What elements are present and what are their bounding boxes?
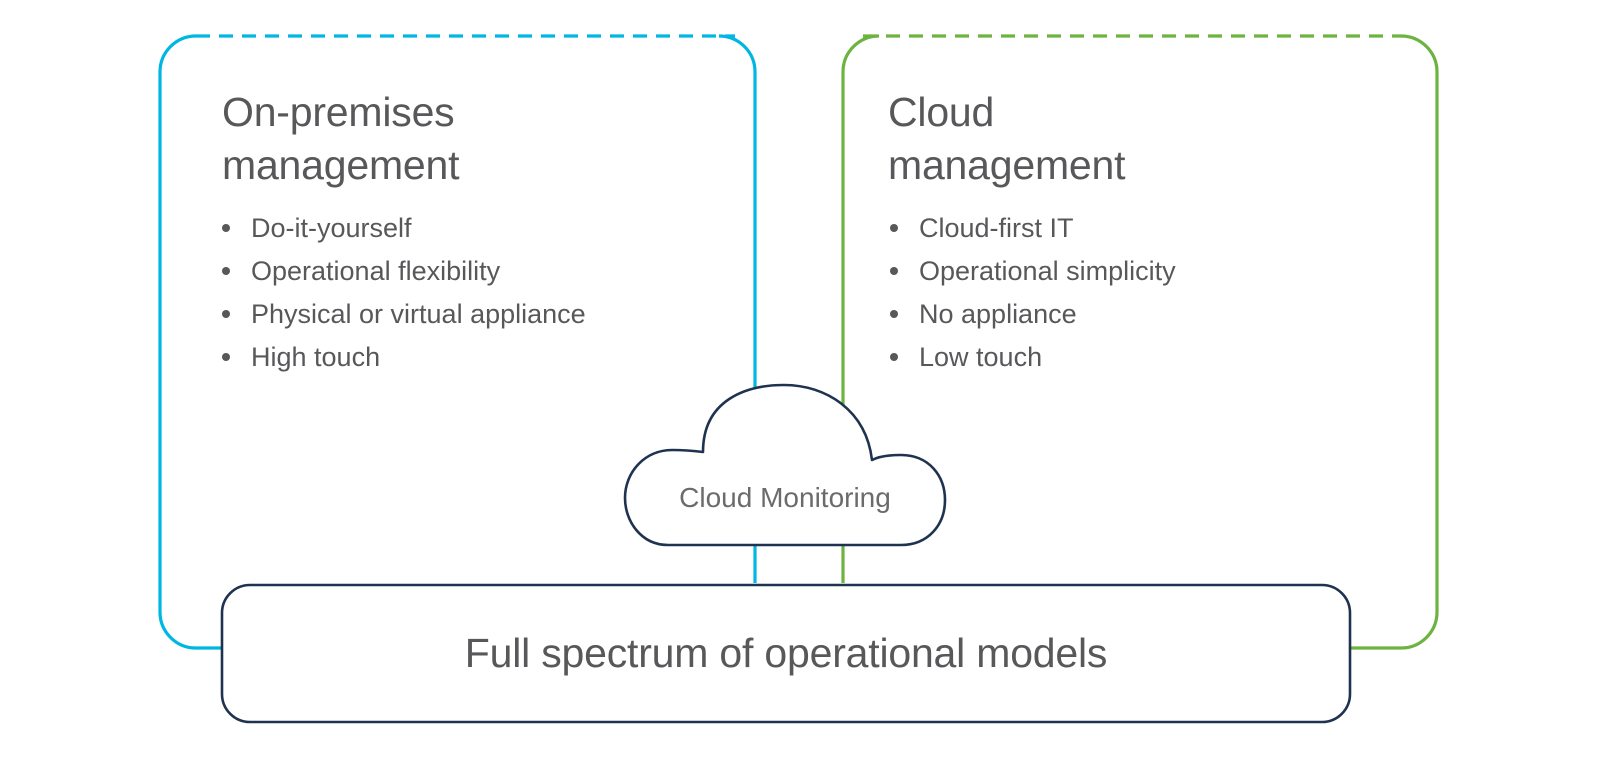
- banner-label: Full spectrum of operational models: [222, 585, 1350, 722]
- bullet-dot-icon: [222, 353, 230, 361]
- cloud-panel-right-edge: [1348, 36, 1437, 648]
- onprem-panel-heading: On-premises management: [222, 86, 459, 192]
- cloud-node-label: Cloud Monitoring: [625, 482, 945, 514]
- onprem-panel-left-edge: [160, 36, 224, 648]
- list-item: Do-it-yourself: [222, 207, 586, 250]
- list-item-label: Physical or virtual appliance: [251, 299, 586, 329]
- list-item-label: Cloud-first IT: [919, 213, 1074, 243]
- bullet-dot-icon: [890, 224, 898, 232]
- list-item: Cloud-first IT: [890, 207, 1176, 250]
- bullet-dot-icon: [222, 267, 230, 275]
- list-item: Operational flexibility: [222, 250, 586, 293]
- list-item: Low touch: [890, 336, 1176, 379]
- onprem-bullet-list: Do-it-yourself Operational flexibility P…: [222, 207, 586, 379]
- bullet-dot-icon: [222, 224, 230, 232]
- list-item-label: Operational simplicity: [919, 256, 1176, 286]
- list-item-label: Operational flexibility: [251, 256, 500, 286]
- list-item-label: Do-it-yourself: [251, 213, 412, 243]
- cloud-bullet-list: Cloud-first IT Operational simplicity No…: [890, 207, 1176, 379]
- bullet-dot-icon: [222, 310, 230, 318]
- cloud-panel-heading: Cloud management: [888, 86, 1125, 192]
- list-item: No appliance: [890, 293, 1176, 336]
- list-item-label: High touch: [251, 342, 380, 372]
- bullet-dot-icon: [890, 267, 898, 275]
- list-item: Operational simplicity: [890, 250, 1176, 293]
- bullet-dot-icon: [890, 353, 898, 361]
- list-item: High touch: [222, 336, 586, 379]
- list-item: Physical or virtual appliance: [222, 293, 586, 336]
- list-item-label: Low touch: [919, 342, 1042, 372]
- list-item-label: No appliance: [919, 299, 1077, 329]
- cloud-shape-icon: [625, 385, 945, 545]
- diagram-canvas: On-premises management Do-it-yourself Op…: [0, 0, 1600, 776]
- bullet-dot-icon: [890, 310, 898, 318]
